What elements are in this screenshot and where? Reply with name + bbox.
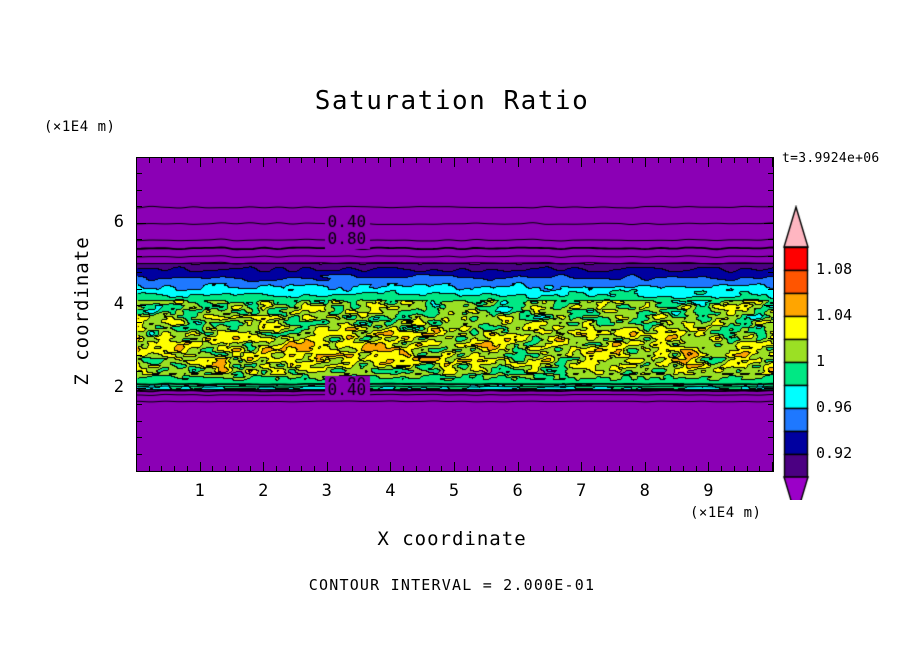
colorbar-gradient — [780, 205, 820, 500]
tick-mark — [136, 256, 142, 257]
tick-mark — [768, 206, 774, 207]
tick-mark — [250, 157, 251, 163]
tick-mark — [759, 466, 760, 472]
tick-mark — [492, 157, 493, 163]
contour-field — [137, 158, 773, 471]
tick-mark — [340, 466, 341, 472]
tick-mark — [683, 466, 684, 472]
tick-mark — [454, 462, 455, 472]
contour-interval-caption: CONTOUR INTERVAL = 2.000E-01 — [0, 576, 904, 594]
tick-mark — [518, 462, 519, 472]
tick-mark — [149, 157, 150, 163]
x-tick-label: 9 — [688, 481, 728, 501]
tick-mark — [759, 157, 760, 163]
tick-mark — [505, 157, 506, 163]
tick-mark — [670, 157, 671, 163]
tick-mark — [378, 466, 379, 472]
tick-mark — [454, 157, 455, 167]
tick-mark — [670, 466, 671, 472]
tick-mark — [764, 388, 774, 389]
tick-mark — [289, 466, 290, 472]
x-tick-label: 5 — [434, 481, 474, 501]
tick-mark — [365, 466, 366, 472]
tick-mark — [764, 223, 774, 224]
tick-mark — [314, 157, 315, 163]
tick-mark — [352, 466, 353, 472]
tick-mark — [721, 466, 722, 472]
tick-mark — [505, 466, 506, 472]
tick-mark — [556, 466, 557, 472]
tick-mark — [768, 289, 774, 290]
y-axis-title: Z coordinate — [71, 211, 93, 411]
tick-mark — [619, 157, 620, 163]
tick-mark — [276, 466, 277, 472]
tick-mark — [645, 157, 646, 167]
tick-mark — [174, 466, 175, 472]
tick-mark — [467, 157, 468, 163]
tick-mark — [161, 157, 162, 163]
tick-mark — [721, 157, 722, 163]
tick-mark — [734, 157, 735, 163]
tick-mark — [340, 157, 341, 163]
tick-mark — [764, 305, 774, 306]
tick-mark — [136, 322, 142, 323]
y-tick-label: 4 — [98, 294, 124, 314]
tick-mark — [390, 462, 391, 472]
tick-mark — [136, 223, 146, 224]
tick-mark — [543, 466, 544, 472]
tick-mark — [441, 157, 442, 163]
tick-mark — [607, 466, 608, 472]
tick-mark — [225, 466, 226, 472]
tick-mark — [581, 462, 582, 472]
tick-mark — [416, 466, 417, 472]
tick-mark — [187, 466, 188, 472]
tick-mark — [619, 466, 620, 472]
y-axis-unit-label: (×1E4 m) — [44, 119, 115, 135]
tick-mark — [479, 157, 480, 163]
tick-mark — [136, 305, 146, 306]
page-title: Saturation Ratio — [0, 86, 904, 116]
tick-mark — [768, 190, 774, 191]
tick-mark — [708, 462, 709, 472]
colorbar-tick-label: 1.04 — [816, 306, 852, 324]
contour-plot-area — [136, 157, 774, 472]
colorbar-tick-label: 1.08 — [816, 260, 852, 278]
tick-mark — [403, 466, 404, 472]
tick-mark — [327, 462, 328, 472]
tick-mark — [467, 466, 468, 472]
tick-mark — [772, 462, 773, 472]
tick-mark — [768, 421, 774, 422]
tick-mark — [136, 388, 146, 389]
tick-mark — [276, 157, 277, 163]
tick-mark — [327, 157, 328, 167]
tick-mark — [429, 157, 430, 163]
tick-mark — [568, 466, 569, 472]
tick-mark — [683, 157, 684, 163]
y-tick-label: 6 — [98, 212, 124, 232]
tick-mark — [556, 157, 557, 163]
tick-mark — [149, 466, 150, 472]
tick-mark — [136, 272, 142, 273]
tick-mark — [768, 454, 774, 455]
x-tick-label: 3 — [307, 481, 347, 501]
y-tick-label: 2 — [98, 377, 124, 397]
tick-mark — [212, 157, 213, 163]
tick-mark — [768, 239, 774, 240]
tick-mark — [301, 157, 302, 163]
tick-mark — [416, 157, 417, 163]
tick-mark — [768, 272, 774, 273]
x-axis-title: X coordinate — [0, 528, 904, 550]
tick-mark — [658, 157, 659, 163]
tick-mark — [734, 466, 735, 472]
tick-mark — [594, 466, 595, 472]
tick-mark — [543, 157, 544, 163]
tick-mark — [136, 239, 142, 240]
tick-mark — [696, 157, 697, 163]
tick-mark — [441, 466, 442, 472]
tick-mark — [747, 157, 748, 163]
tick-mark — [768, 404, 774, 405]
tick-mark — [174, 157, 175, 163]
tick-mark — [378, 157, 379, 163]
tick-mark — [136, 371, 142, 372]
tick-mark — [136, 404, 142, 405]
time-annotation: t=3.9924e+06 — [782, 151, 880, 166]
x-tick-label: 2 — [243, 481, 283, 501]
x-tick-label: 7 — [561, 481, 601, 501]
tick-mark — [479, 466, 480, 472]
tick-mark — [518, 157, 519, 167]
figure-canvas: Saturation Ratio (×1E4 m) t=3.9924e+06 Z… — [0, 0, 904, 654]
tick-mark — [696, 466, 697, 472]
tick-mark — [768, 338, 774, 339]
tick-mark — [772, 157, 773, 167]
tick-mark — [747, 466, 748, 472]
tick-mark — [768, 322, 774, 323]
tick-mark — [429, 466, 430, 472]
colorbar-tick-label: 1 — [816, 352, 825, 370]
tick-mark — [136, 454, 142, 455]
tick-mark — [607, 157, 608, 163]
tick-mark — [263, 157, 264, 167]
tick-mark — [238, 466, 239, 472]
tick-mark — [161, 466, 162, 472]
tick-mark — [136, 355, 142, 356]
x-tick-label: 6 — [498, 481, 538, 501]
tick-mark — [238, 157, 239, 163]
tick-mark — [594, 157, 595, 163]
tick-mark — [768, 371, 774, 372]
tick-mark — [492, 466, 493, 472]
tick-mark — [225, 157, 226, 163]
tick-mark — [768, 355, 774, 356]
tick-mark — [187, 157, 188, 163]
tick-mark — [708, 157, 709, 167]
tick-mark — [136, 421, 142, 422]
tick-mark — [768, 173, 774, 174]
tick-mark — [768, 256, 774, 257]
tick-mark — [352, 157, 353, 163]
colorbar-tick-label: 0.92 — [816, 444, 852, 462]
colorbar-tick-label: 0.96 — [816, 398, 852, 416]
tick-mark — [530, 157, 531, 163]
tick-mark — [365, 157, 366, 163]
tick-mark — [301, 466, 302, 472]
x-tick-label: 8 — [625, 481, 665, 501]
tick-mark — [568, 157, 569, 163]
tick-mark — [136, 289, 142, 290]
tick-mark — [632, 466, 633, 472]
tick-mark — [645, 462, 646, 472]
tick-mark — [530, 466, 531, 472]
tick-mark — [390, 157, 391, 167]
tick-mark — [250, 466, 251, 472]
x-axis-unit-label: (×1E4 m) — [690, 505, 761, 521]
tick-mark — [263, 462, 264, 472]
tick-mark — [632, 157, 633, 163]
tick-mark — [581, 157, 582, 167]
tick-mark — [136, 173, 142, 174]
tick-mark — [403, 157, 404, 163]
tick-mark — [136, 437, 142, 438]
tick-mark — [136, 338, 142, 339]
tick-mark — [200, 462, 201, 472]
tick-mark — [136, 206, 142, 207]
tick-mark — [136, 190, 142, 191]
tick-mark — [212, 466, 213, 472]
tick-mark — [200, 157, 201, 167]
tick-mark — [314, 466, 315, 472]
tick-mark — [289, 157, 290, 163]
tick-mark — [658, 466, 659, 472]
tick-mark — [768, 437, 774, 438]
x-tick-label: 1 — [180, 481, 220, 501]
x-tick-label: 4 — [370, 481, 410, 501]
colorbar: 1.081.0410.960.92 — [780, 205, 900, 500]
